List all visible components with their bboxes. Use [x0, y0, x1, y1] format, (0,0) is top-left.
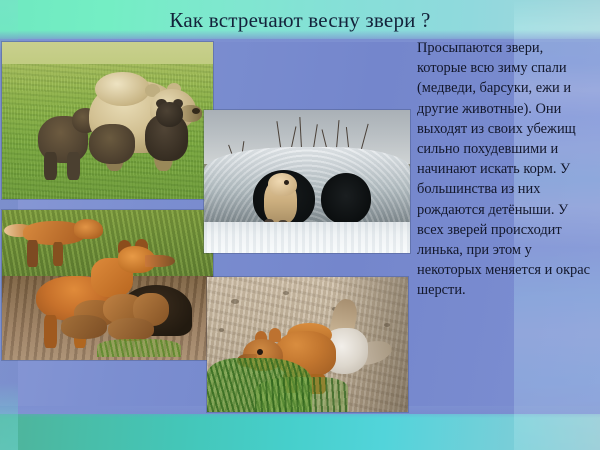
marmot-photo-scene — [204, 110, 410, 253]
fox-leaping-head — [74, 219, 104, 239]
marmot-snow-texture — [204, 222, 410, 253]
bear-cub-right-head — [156, 102, 183, 127]
bear-cub-left-leg-front — [44, 152, 57, 180]
fox-leaping-leg-front — [27, 240, 38, 267]
marmot-head — [268, 173, 297, 196]
squirrel-grass-foreground — [255, 377, 347, 412]
squirrel-pebble-2 — [283, 291, 289, 295]
fox-kit-4 — [61, 315, 107, 339]
slide-body-text: Просыпаются звери, которые всю зиму спал… — [417, 38, 595, 301]
slide-background-bottom-band — [0, 414, 600, 450]
bears-photo — [2, 42, 213, 199]
adult-bear-shoulder-hump — [95, 72, 150, 107]
slide-title: Как встречают весну звери ? — [0, 7, 600, 33]
foxes-photo — [2, 210, 213, 360]
squirrel-photo — [207, 277, 408, 412]
bears-photo-scene — [2, 42, 213, 199]
fox-foreground-grass — [97, 339, 181, 357]
fox-kit-5 — [108, 318, 154, 341]
fox-mother-snout — [145, 255, 175, 267]
slide-canvas: Как встречают весну звери ? — [0, 0, 600, 450]
foxes-photo-scene — [2, 210, 213, 360]
squirrel-photo-scene — [207, 277, 408, 412]
marmot-log-hollow-right — [321, 173, 370, 224]
bear-cub-left-leg-back — [67, 152, 80, 180]
bear-cub-middle-body — [89, 124, 135, 165]
squirrel-eye — [257, 349, 263, 355]
fox-leaping-leg-back — [53, 242, 64, 266]
squirrel-pebble-1 — [231, 299, 239, 304]
squirrel-pebble-6 — [384, 323, 390, 327]
marmot-photo — [204, 110, 410, 253]
fox-mother-leg-front — [44, 315, 57, 348]
